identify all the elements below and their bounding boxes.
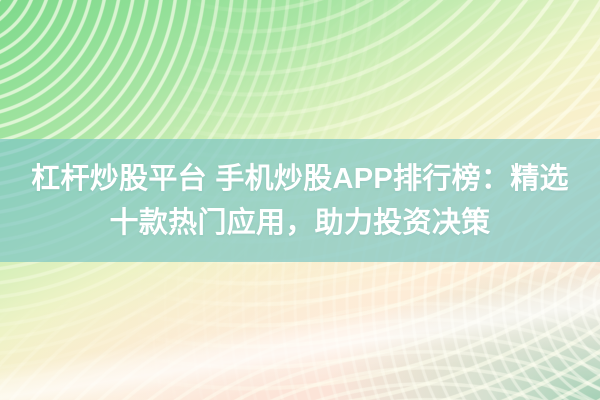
article-cover-banner: 杠杆炒股平台 手机炒股APP排行榜：精选十款热门应用，助力投资决策 bbox=[0, 0, 600, 400]
title-band: 杠杆炒股平台 手机炒股APP排行榜：精选十款热门应用，助力投资决策 bbox=[0, 139, 600, 262]
banner-title: 杠杆炒股平台 手机炒股APP排行榜：精选十款热门应用，助力投资决策 bbox=[20, 157, 580, 245]
